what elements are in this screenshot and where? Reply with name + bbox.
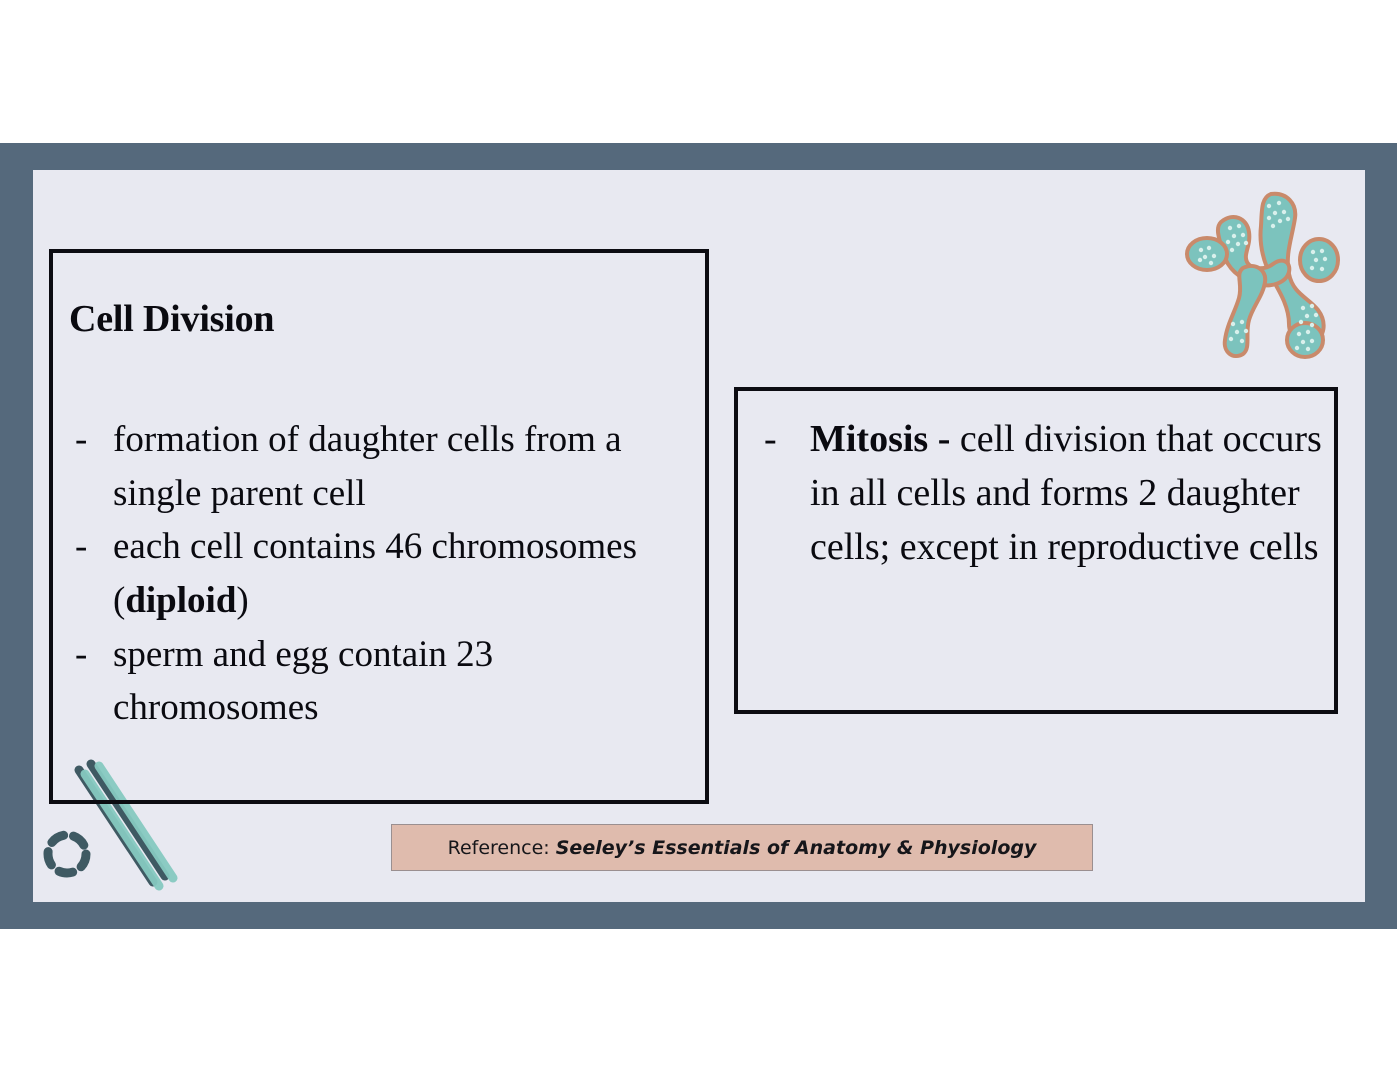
bullet-text: formation of daughter cells from a singl… [113, 413, 701, 520]
bullet-text-emphasis: Mitosis - [810, 418, 960, 460]
bullet-text: sperm and egg contain 23 chromosomes [113, 628, 701, 735]
slide-panel: Cell Division - formation of daughter ce… [33, 170, 1365, 902]
chromosome-cluster-icon [1185, 182, 1351, 360]
reference-banner: Reference: Seeley’s Essentials of Anatom… [391, 824, 1093, 871]
mitosis-bullet-list: - Mitosis - cell division that occurs in… [746, 413, 1331, 575]
list-item: - sperm and egg contain 23 chromosomes [61, 628, 701, 735]
slide-frame: Cell Division - formation of daughter ce… [0, 143, 1397, 929]
dashed-circle-ring-icon [38, 825, 96, 883]
reference-title: Seeley’s Essentials of Anatomy & Physiol… [556, 837, 1037, 859]
list-item: - Mitosis - cell division that occurs in… [746, 413, 1331, 575]
bullet-text: Mitosis - cell division that occurs in a… [810, 413, 1331, 575]
cell-division-text-box: Cell Division - formation of daughter ce… [49, 249, 709, 804]
reference-label: Reference: [448, 837, 556, 859]
bullet-dash: - [61, 413, 113, 467]
bullet-text-emphasis: diploid [125, 580, 236, 621]
page-title: Cell Division [69, 297, 274, 341]
bullet-dash: - [61, 520, 113, 574]
bullet-dash: - [61, 628, 113, 682]
mitosis-text-box: - Mitosis - cell division that occurs in… [734, 387, 1338, 714]
list-item: - formation of daughter cells from a sin… [61, 413, 701, 520]
list-item: - each cell contains 46 chromosomes (dip… [61, 520, 701, 627]
bullet-dash: - [746, 413, 810, 467]
cell-division-bullet-list: - formation of daughter cells from a sin… [61, 413, 701, 735]
bullet-text: each cell contains 46 chromosomes (diplo… [113, 520, 701, 627]
reference-text: Reference: Seeley’s Essentials of Anatom… [448, 837, 1037, 859]
bullet-text-after: ) [236, 580, 248, 621]
